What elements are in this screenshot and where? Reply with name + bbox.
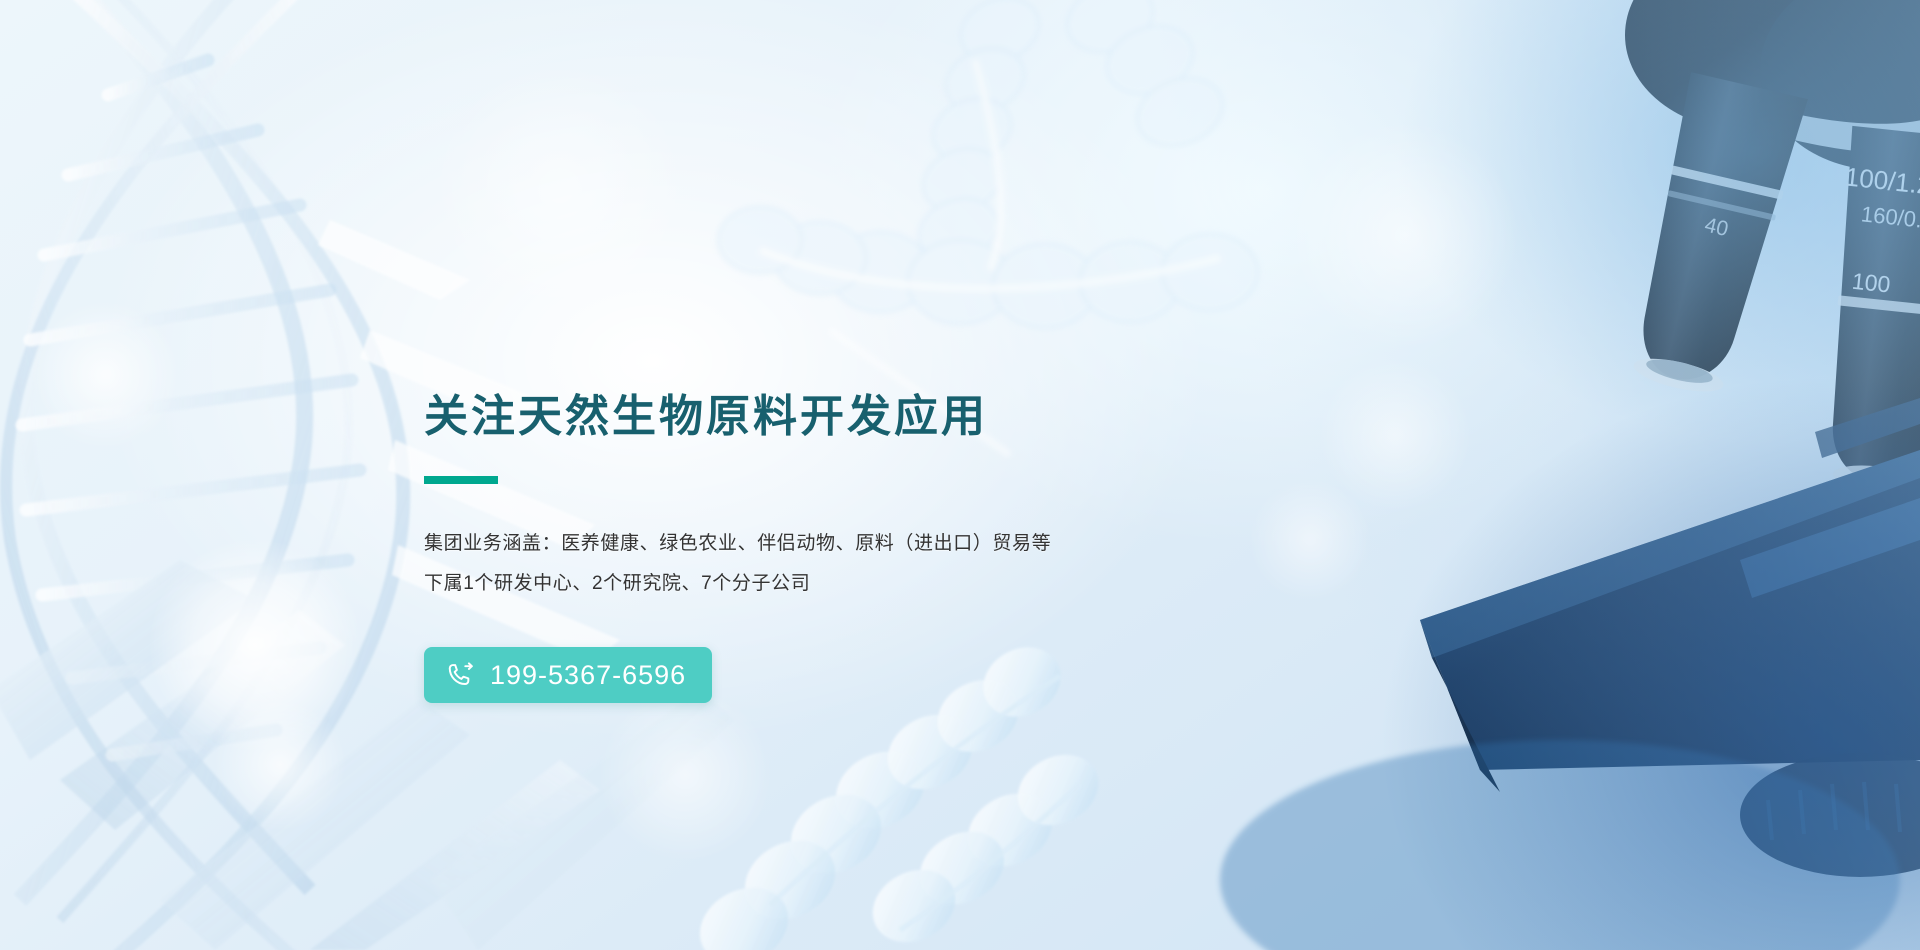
headline-divider — [424, 476, 498, 484]
description-line-1: 集团业务涵盖：医养健康、绿色农业、伴侣动物、原料（进出口）贸易等 — [424, 524, 1244, 564]
phone-cta-button[interactable]: 199-5367-6596 — [424, 647, 712, 703]
bokeh-glow — [1320, 360, 1470, 510]
banner-content: 关注天然生物原料开发应用 集团业务涵盖：医养健康、绿色农业、伴侣动物、原料（进出… — [424, 390, 1244, 703]
phone-forward-icon — [446, 660, 476, 690]
bokeh-glow — [1250, 480, 1370, 600]
bokeh-glow — [30, 300, 180, 450]
objective-label-40: 40 — [1702, 214, 1730, 242]
objective-label-100: 100 — [1851, 268, 1892, 298]
banner-headline: 关注天然生物原料开发应用 — [424, 390, 1244, 444]
hero-banner: 40 100/1.25 160/0.17 100 — [0, 0, 1920, 950]
banner-description: 集团业务涵盖：医养健康、绿色农业、伴侣动物、原料（进出口）贸易等 下属1个研发中… — [424, 524, 1244, 604]
bokeh-glow — [150, 540, 360, 750]
bokeh-glow — [600, 690, 770, 860]
description-line-2: 下属1个研发中心、2个研究院、7个分子公司 — [424, 564, 1244, 604]
bokeh-glow — [1290, 120, 1520, 350]
phone-number-label: 199-5367-6596 — [490, 662, 686, 689]
bokeh-glow — [215, 700, 345, 830]
objective-label-160-017: 160/0.17 — [1860, 201, 1920, 235]
lab-blue-wash — [1160, 0, 1920, 950]
objective-label-100-125: 100/1.25 — [1843, 161, 1920, 201]
microscope-illustration: 40 100/1.25 160/0.17 100 — [1220, 0, 1920, 950]
bokeh-glow — [430, 60, 690, 320]
